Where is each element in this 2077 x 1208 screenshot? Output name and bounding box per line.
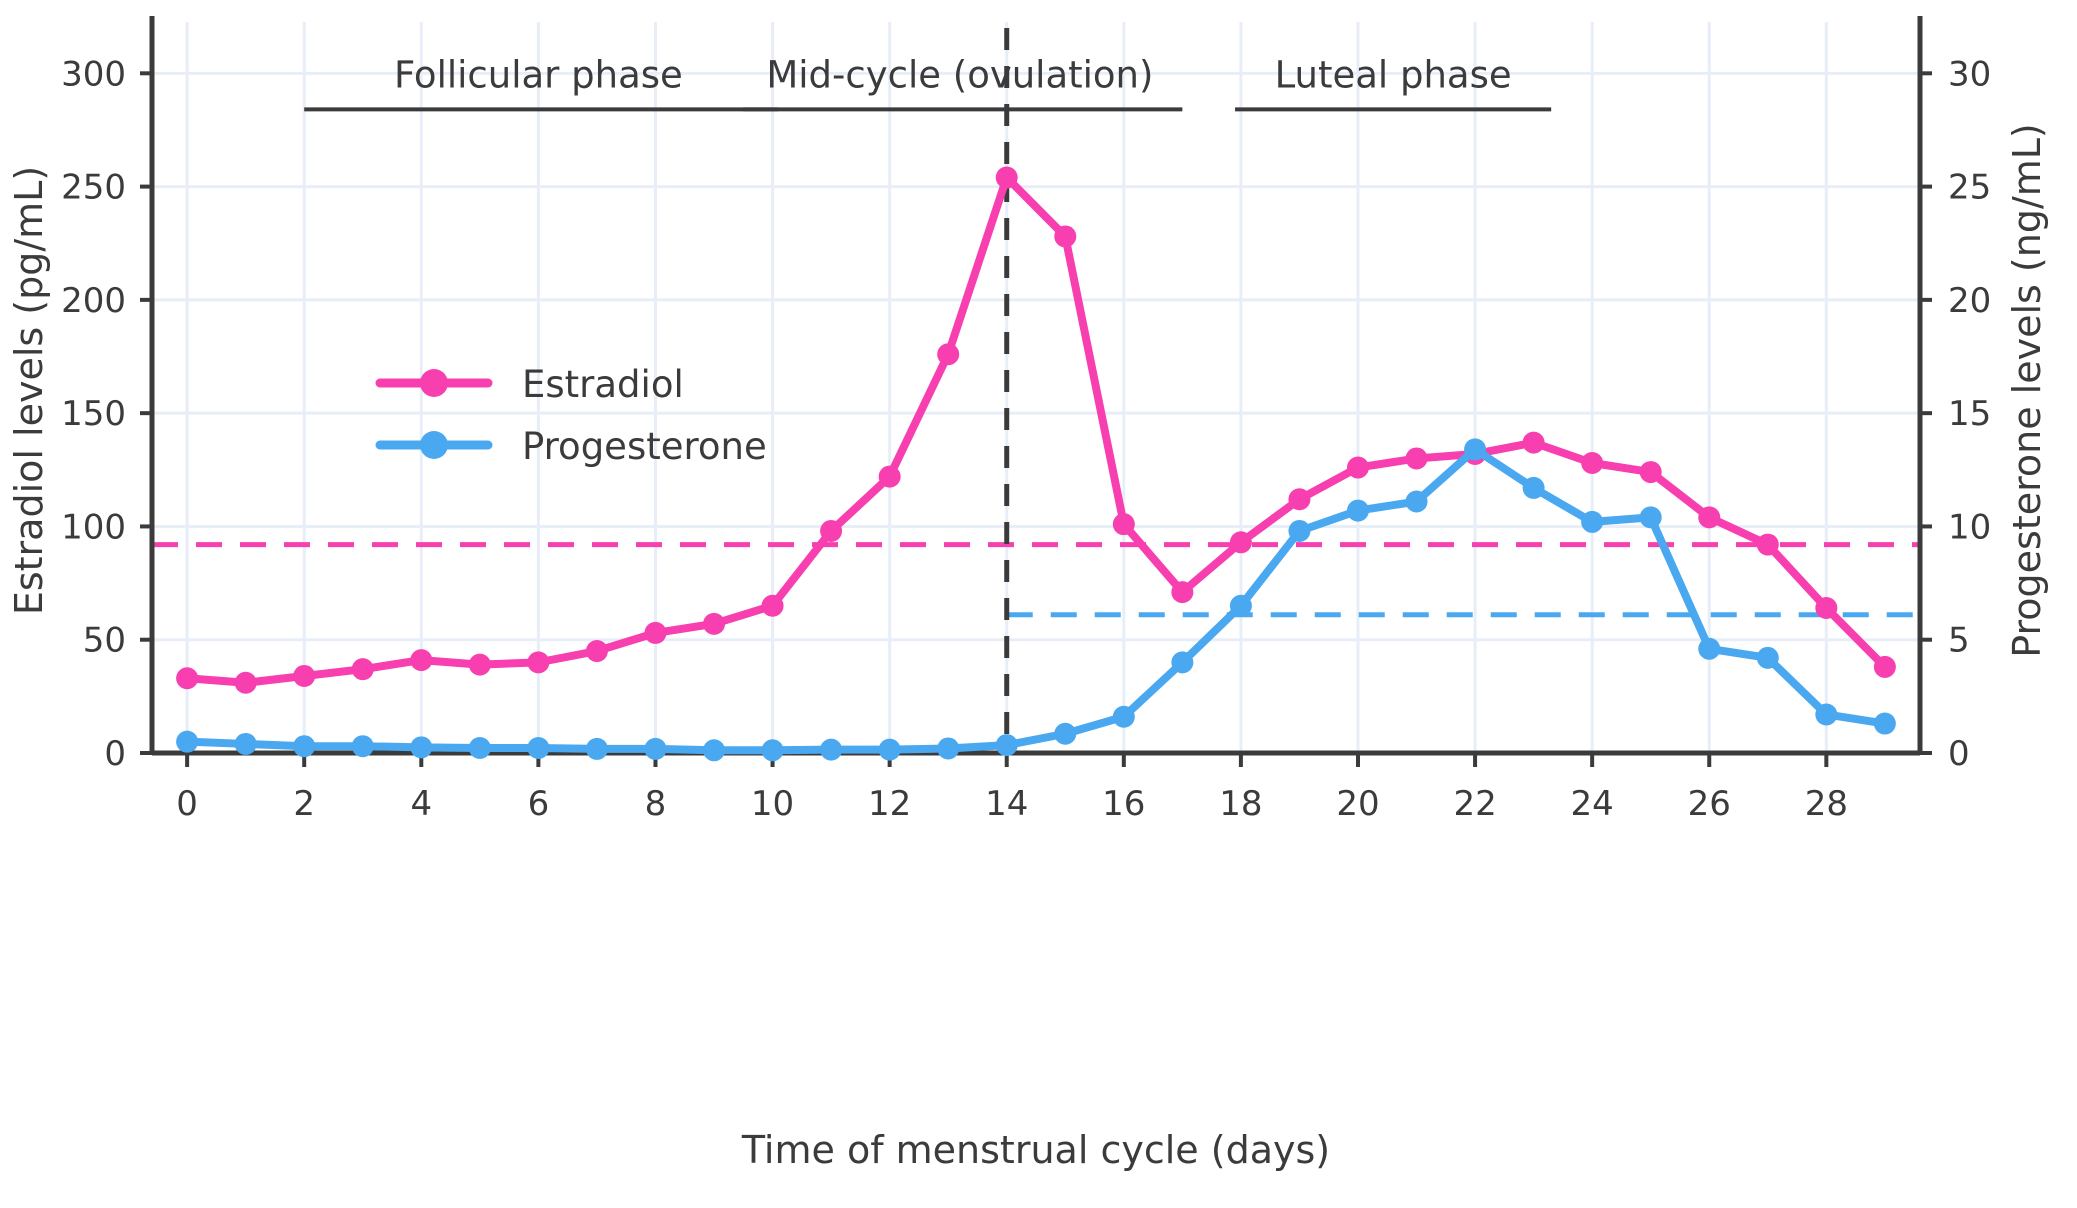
data-point bbox=[937, 737, 959, 759]
data-point bbox=[1171, 651, 1193, 673]
y-axis-left-tick-label: 250 bbox=[61, 168, 126, 208]
x-axis-tick-label: 24 bbox=[1571, 784, 1614, 824]
data-point bbox=[1406, 447, 1428, 469]
data-point bbox=[703, 613, 725, 635]
data-point bbox=[1230, 531, 1252, 553]
data-point bbox=[1054, 723, 1076, 745]
data-point bbox=[527, 651, 549, 673]
data-point bbox=[1640, 461, 1662, 483]
data-point bbox=[1640, 506, 1662, 528]
data-point bbox=[703, 739, 725, 761]
data-point bbox=[176, 667, 198, 689]
y-axis-left-title: Estradiol levels (pg/mL) bbox=[7, 166, 51, 615]
x-axis-tick-label: 22 bbox=[1453, 784, 1496, 824]
data-point bbox=[1171, 581, 1193, 603]
x-axis-tick-label: 8 bbox=[645, 784, 667, 824]
data-point bbox=[410, 736, 432, 758]
line-chart: 0501001502002503000510152025300246810121… bbox=[0, 0, 2077, 1208]
data-point bbox=[410, 649, 432, 671]
x-axis-tick-label: 4 bbox=[410, 784, 432, 824]
legend-swatch-marker bbox=[420, 431, 448, 459]
chart-container: 0501001502002503000510152025300246810121… bbox=[0, 0, 2077, 1208]
data-point bbox=[586, 640, 608, 662]
x-axis-tick-label: 12 bbox=[868, 784, 911, 824]
y-axis-left-tick-label: 0 bbox=[104, 734, 126, 774]
data-point bbox=[586, 738, 608, 760]
y-axis-left-tick-label: 150 bbox=[61, 394, 126, 434]
phase-label-luteal-phase: Luteal phase bbox=[1275, 53, 1512, 96]
data-point bbox=[1757, 647, 1779, 669]
data-point bbox=[1757, 534, 1779, 556]
data-point bbox=[879, 739, 901, 761]
y-axis-right-tick-label: 30 bbox=[1948, 54, 1991, 94]
data-point bbox=[1815, 703, 1837, 725]
data-point bbox=[469, 737, 491, 759]
x-axis-tick-label: 18 bbox=[1219, 784, 1262, 824]
data-point bbox=[1288, 520, 1310, 542]
data-point bbox=[762, 595, 784, 617]
data-point bbox=[937, 343, 959, 365]
x-axis-tick-label: 28 bbox=[1805, 784, 1848, 824]
data-point bbox=[235, 733, 257, 755]
data-point bbox=[235, 672, 257, 694]
data-point bbox=[1874, 713, 1896, 735]
y-axis-right-tick-label: 15 bbox=[1948, 394, 1991, 434]
legend-label: Estradiol bbox=[522, 363, 684, 406]
data-point bbox=[1581, 511, 1603, 533]
data-point bbox=[352, 658, 374, 680]
x-axis-tick-label: 10 bbox=[751, 784, 794, 824]
y-axis-right-tick-label: 5 bbox=[1948, 621, 1970, 661]
legend-label: Progesterone bbox=[522, 425, 767, 468]
chart-background bbox=[0, 0, 2077, 1208]
y-axis-right-tick-label: 20 bbox=[1948, 281, 1991, 321]
legend-swatch-marker bbox=[420, 369, 448, 397]
x-axis-tick-label: 14 bbox=[985, 784, 1028, 824]
y-axis-left-tick-label: 200 bbox=[61, 281, 126, 321]
data-point bbox=[1113, 706, 1135, 728]
data-point bbox=[1698, 638, 1720, 660]
data-point bbox=[996, 167, 1018, 189]
x-axis-tick-label: 20 bbox=[1336, 784, 1379, 824]
phase-label-follicular-phase: Follicular phase bbox=[394, 53, 683, 96]
y-axis-left-tick-label: 100 bbox=[61, 507, 126, 547]
data-point bbox=[293, 735, 315, 757]
data-point bbox=[820, 739, 842, 761]
data-point bbox=[1113, 513, 1135, 535]
data-point bbox=[1288, 488, 1310, 510]
data-point bbox=[1406, 491, 1428, 513]
data-point bbox=[1464, 438, 1486, 460]
data-point bbox=[293, 665, 315, 687]
data-point bbox=[1523, 477, 1545, 499]
data-point bbox=[1815, 597, 1837, 619]
data-point bbox=[1874, 656, 1896, 678]
data-point bbox=[1347, 457, 1369, 479]
data-point bbox=[644, 622, 666, 644]
data-point bbox=[1054, 225, 1076, 247]
y-axis-right-title: Progesterone levels (ng/mL) bbox=[2005, 123, 2049, 658]
data-point bbox=[762, 739, 784, 761]
data-point bbox=[1230, 595, 1252, 617]
data-point bbox=[527, 737, 549, 759]
data-point bbox=[996, 734, 1018, 756]
x-axis-tick-label: 26 bbox=[1688, 784, 1731, 824]
data-point bbox=[1581, 452, 1603, 474]
data-point bbox=[1347, 500, 1369, 522]
y-axis-right-tick-label: 0 bbox=[1948, 734, 1970, 774]
y-axis-right-tick-label: 10 bbox=[1948, 507, 1991, 547]
x-axis-title: Time of menstrual cycle (days) bbox=[741, 1128, 1330, 1172]
data-point bbox=[820, 520, 842, 542]
data-point bbox=[352, 735, 374, 757]
y-axis-left-tick-label: 300 bbox=[61, 54, 126, 94]
y-axis-right-tick-label: 25 bbox=[1948, 168, 1991, 208]
data-point bbox=[176, 731, 198, 753]
data-point bbox=[1698, 506, 1720, 528]
data-point bbox=[644, 738, 666, 760]
x-axis-tick-label: 16 bbox=[1102, 784, 1145, 824]
x-axis-tick-label: 0 bbox=[176, 784, 198, 824]
y-axis-left-tick-label: 50 bbox=[83, 621, 126, 661]
x-axis-tick-label: 2 bbox=[293, 784, 315, 824]
data-point bbox=[469, 654, 491, 676]
phase-label-mid-cycle-phase: Mid-cycle (ovulation) bbox=[766, 53, 1153, 96]
data-point bbox=[1523, 432, 1545, 454]
data-point bbox=[879, 466, 901, 488]
x-axis-tick-label: 6 bbox=[528, 784, 550, 824]
